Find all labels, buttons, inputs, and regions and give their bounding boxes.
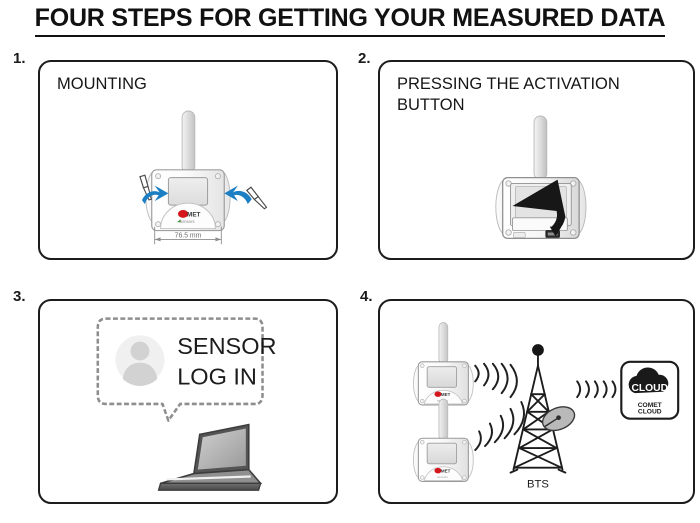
wireless-sensor-body: MET sensors bbox=[152, 170, 225, 231]
cloud-box: CLOUD COMET CLOUD bbox=[621, 362, 678, 419]
wireless-sensor-bottom: MET sensors bbox=[413, 399, 473, 481]
cloud-label: CLOUD bbox=[631, 383, 668, 394]
comet-logo: MET sensors bbox=[177, 210, 200, 224]
cloud-shape bbox=[629, 367, 669, 393]
right-screw-icon bbox=[247, 187, 267, 209]
svg-text:sensors: sensors bbox=[437, 475, 448, 479]
antenna-icon bbox=[182, 111, 195, 173]
step-4: 4. bbox=[350, 282, 700, 523]
dimension-line bbox=[155, 227, 222, 245]
page-title-text: FOUR STEPS FOR GETTING YOUR MEASURED DAT… bbox=[35, 4, 666, 37]
wireless-sensor-top: MET sensors bbox=[413, 323, 473, 405]
cloud-caption-line-2: CLOUD bbox=[638, 409, 662, 416]
svg-text:MET: MET bbox=[441, 392, 451, 397]
bubble-line-2: LOG IN bbox=[177, 363, 257, 389]
page-title: FOUR STEPS FOR GETTING YOUR MEASURED DAT… bbox=[0, 4, 700, 37]
step-2-number: 2. bbox=[358, 50, 371, 67]
step-4-panel: MET sensors MET sensors bbox=[378, 299, 695, 504]
svg-text:sensors: sensors bbox=[180, 219, 194, 224]
step-2: 2. PRESSING THE ACTIVATION BUTTON bbox=[350, 45, 700, 275]
step-2-title: PRESSING THE ACTIVATION BUTTON bbox=[397, 74, 620, 116]
step-1-panel: MOUNTING bbox=[38, 60, 338, 260]
svg-text:sensors: sensors bbox=[437, 399, 448, 403]
step-1: 1. MOUNTING bbox=[0, 45, 350, 275]
laptop-icon bbox=[159, 425, 261, 491]
svg-text:MET: MET bbox=[441, 469, 451, 474]
tower-label: BTS bbox=[527, 478, 549, 490]
step-3-number: 3. bbox=[13, 288, 26, 305]
cloud-caption-line-1: COMET bbox=[638, 402, 662, 409]
left-screw-icon bbox=[140, 175, 151, 200]
dish-antenna-icon bbox=[539, 402, 578, 434]
black-press-arrow-icon bbox=[512, 180, 565, 237]
mounting-wings bbox=[496, 180, 586, 235]
bubble-line-1: SENSOR bbox=[177, 333, 276, 359]
wireless-sensor-open-body bbox=[503, 178, 579, 239]
radio-waves-top bbox=[475, 364, 517, 397]
activation-button bbox=[546, 231, 560, 238]
radio-waves-bottom bbox=[475, 402, 524, 450]
svg-text:MET: MET bbox=[187, 211, 201, 218]
left-blue-arrow-icon bbox=[142, 185, 168, 204]
sensor-to-cloud-illustration: MET sensors MET sensors bbox=[380, 301, 693, 502]
right-blue-arrow-icon bbox=[224, 185, 251, 204]
step-3-panel: SENSOR LOG IN bbox=[38, 299, 338, 504]
antenna-icon bbox=[534, 116, 547, 180]
bts-tower bbox=[511, 344, 566, 472]
radio-waves-cloud bbox=[577, 381, 615, 397]
speech-bubble bbox=[98, 319, 263, 421]
dimension-label: 76.5 mm bbox=[175, 232, 202, 239]
user-avatar-icon bbox=[115, 335, 164, 386]
step-3: 3. bbox=[0, 282, 350, 523]
mounting-wings bbox=[146, 171, 230, 224]
step-1-title: MOUNTING bbox=[57, 74, 147, 95]
step-1-number: 1. bbox=[13, 50, 26, 67]
sensor-login-illustration: SENSOR LOG IN bbox=[40, 301, 336, 502]
step-4-number: 4. bbox=[360, 288, 373, 305]
step-2-panel: PRESSING THE ACTIVATION BUTTON bbox=[378, 60, 695, 260]
